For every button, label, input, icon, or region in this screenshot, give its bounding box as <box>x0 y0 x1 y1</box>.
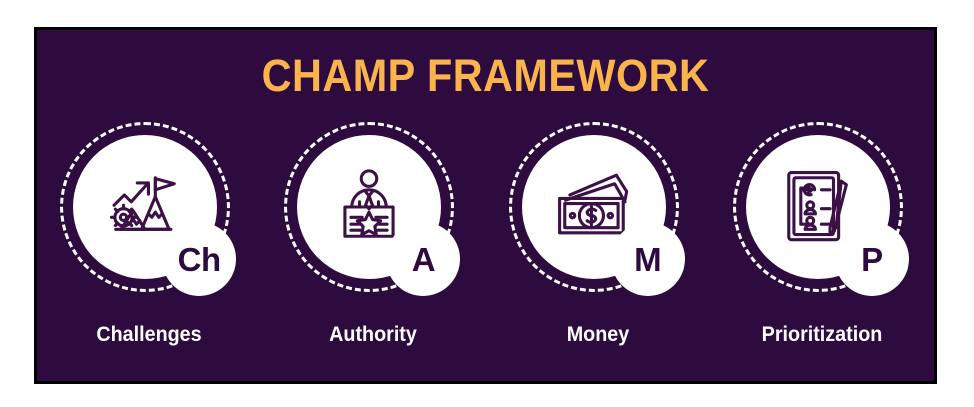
circle-cluster: A <box>278 118 468 308</box>
badge-prioritization: P <box>835 222 909 296</box>
framework-cards-row: Ch Challenges <box>37 118 934 368</box>
circle-cluster: Ch <box>54 118 244 308</box>
badge-challenges: Ch <box>162 222 236 296</box>
card-label-prioritization: Prioritization <box>723 324 920 345</box>
champ-framework-infographic: CHAMP FRAMEWORK <box>34 27 937 384</box>
badge-authority: A <box>386 222 460 296</box>
framework-card-challenges[interactable]: Ch Challenges <box>44 118 254 368</box>
circle-cluster: P <box>727 118 917 308</box>
framework-card-authority[interactable]: A Authority <box>268 118 478 368</box>
page-title: CHAMP FRAMEWORK <box>73 53 898 98</box>
framework-card-money[interactable]: M Money <box>493 118 703 368</box>
card-label-challenges: Challenges <box>50 324 247 345</box>
badge-money: M <box>611 222 685 296</box>
card-label-authority: Authority <box>275 324 472 345</box>
circle-cluster: M <box>503 118 693 308</box>
card-label-money: Money <box>499 324 696 345</box>
framework-card-prioritization[interactable]: P Prioritization <box>717 118 927 368</box>
